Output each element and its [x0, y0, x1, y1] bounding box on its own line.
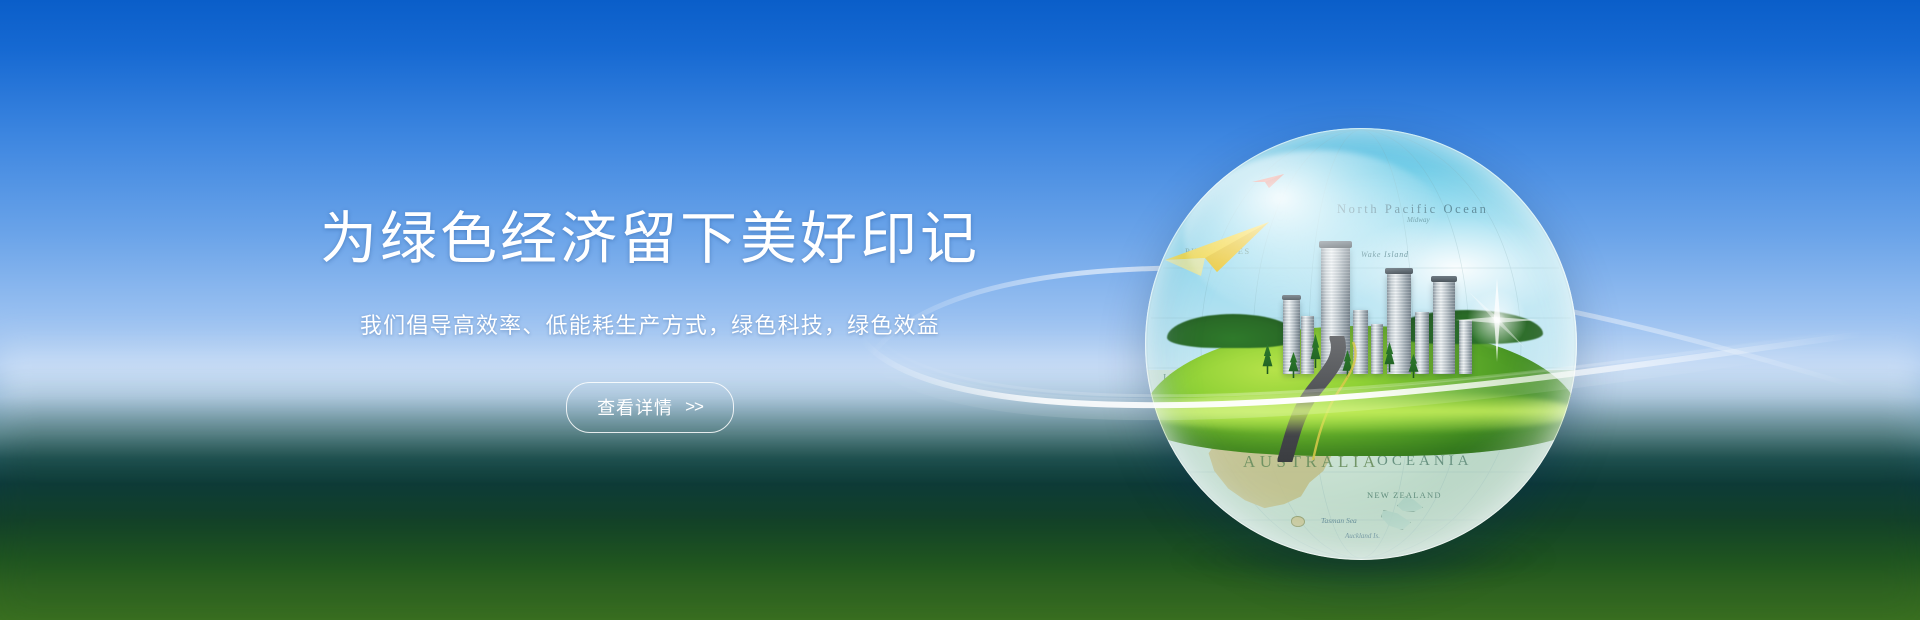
view-details-button[interactable]: 查看详情 >> [566, 382, 734, 433]
building-cap [1431, 276, 1457, 282]
building-cap [1282, 295, 1301, 300]
orange-paper-plane-icon [1183, 152, 1241, 180]
eco-globe: North Pacific Ocean Wake Island Midway P… [1145, 128, 1577, 560]
hero-subtitle: 我们倡导高效率、低能耗生产方式，绿色科技，绿色效益 [360, 308, 940, 340]
red-paper-plane-icon [1251, 172, 1285, 190]
building [1459, 320, 1472, 374]
building-cap [1319, 241, 1352, 248]
tasmania-landmass [1291, 516, 1305, 527]
page-title: 为绿色经济留下美好印记 [320, 211, 980, 268]
view-details-label: 查看详情 [597, 394, 673, 420]
building-cap [1385, 268, 1413, 274]
hill-edge-glow [1145, 390, 1577, 434]
building-tall [1433, 282, 1455, 374]
yellow-paper-plane-icon [1161, 220, 1273, 278]
double-chevron-right-icon: >> [685, 397, 703, 417]
hero-copy-block: 为绿色经济留下美好印记 我们倡导高效率、低能耗生产方式，绿色科技，绿色效益 查看… [0, 0, 1300, 620]
glass-sphere: North Pacific Ocean Wake Island Midway P… [1145, 128, 1577, 560]
hero-banner: 为绿色经济留下美好印记 我们倡导高效率、低能耗生产方式，绿色科技，绿色效益 查看… [0, 0, 1920, 620]
